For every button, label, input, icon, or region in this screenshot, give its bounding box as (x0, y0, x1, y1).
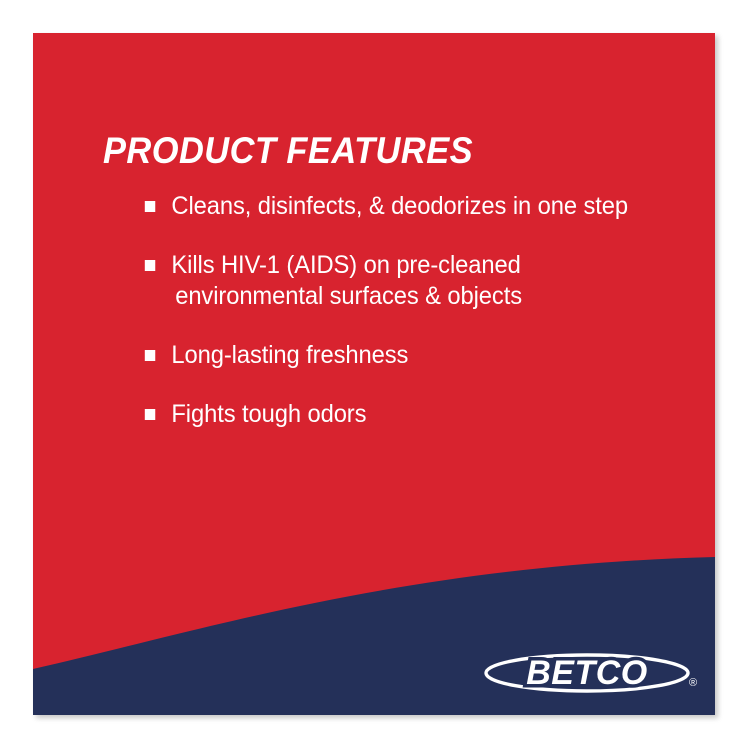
product-feature-card: PRODUCT FEATURES Cleans, disinfects, & d… (0, 0, 750, 750)
list-item: Cleans, disinfects, & deodorizes in one … (141, 191, 683, 222)
list-item: Kills HIV-1 (AIDS) on pre-cleaned enviro… (141, 250, 683, 312)
list-item-line-1: Fights tough odors (171, 400, 366, 428)
list-item-line-1: Long-lasting freshness (171, 341, 408, 369)
list-item: Fights tough odors (141, 399, 683, 430)
red-feature-panel: PRODUCT FEATURES Cleans, disinfects, & d… (33, 33, 715, 715)
page-title: PRODUCT FEATURES (103, 132, 473, 169)
list-item-line-2: environmental surfaces & objects (171, 281, 682, 312)
features-list: Cleans, disinfects, & deodorizes in one … (141, 191, 711, 430)
list-item-label: Fights tough odors (171, 399, 682, 430)
betco-logo: BETCO ® (483, 650, 701, 696)
list-item-label: Long-lasting freshness (171, 340, 682, 371)
square-bullet-icon (145, 409, 155, 420)
square-bullet-icon (145, 350, 155, 361)
registered-trademark-icon: ® (689, 677, 697, 689)
list-item-label: Kills HIV-1 (AIDS) on pre-cleaned enviro… (171, 250, 682, 312)
logo-wordmark: BETCO (526, 654, 648, 692)
list-item-line-1: Cleans, disinfects, & deodorizes in one … (171, 192, 628, 220)
list-item: Long-lasting freshness (141, 340, 683, 371)
list-item-label: Cleans, disinfects, & deodorizes in one … (171, 191, 682, 222)
list-item-line-1: Kills HIV-1 (AIDS) on pre-cleaned (171, 251, 520, 279)
square-bullet-icon (145, 201, 155, 212)
square-bullet-icon (145, 260, 155, 271)
